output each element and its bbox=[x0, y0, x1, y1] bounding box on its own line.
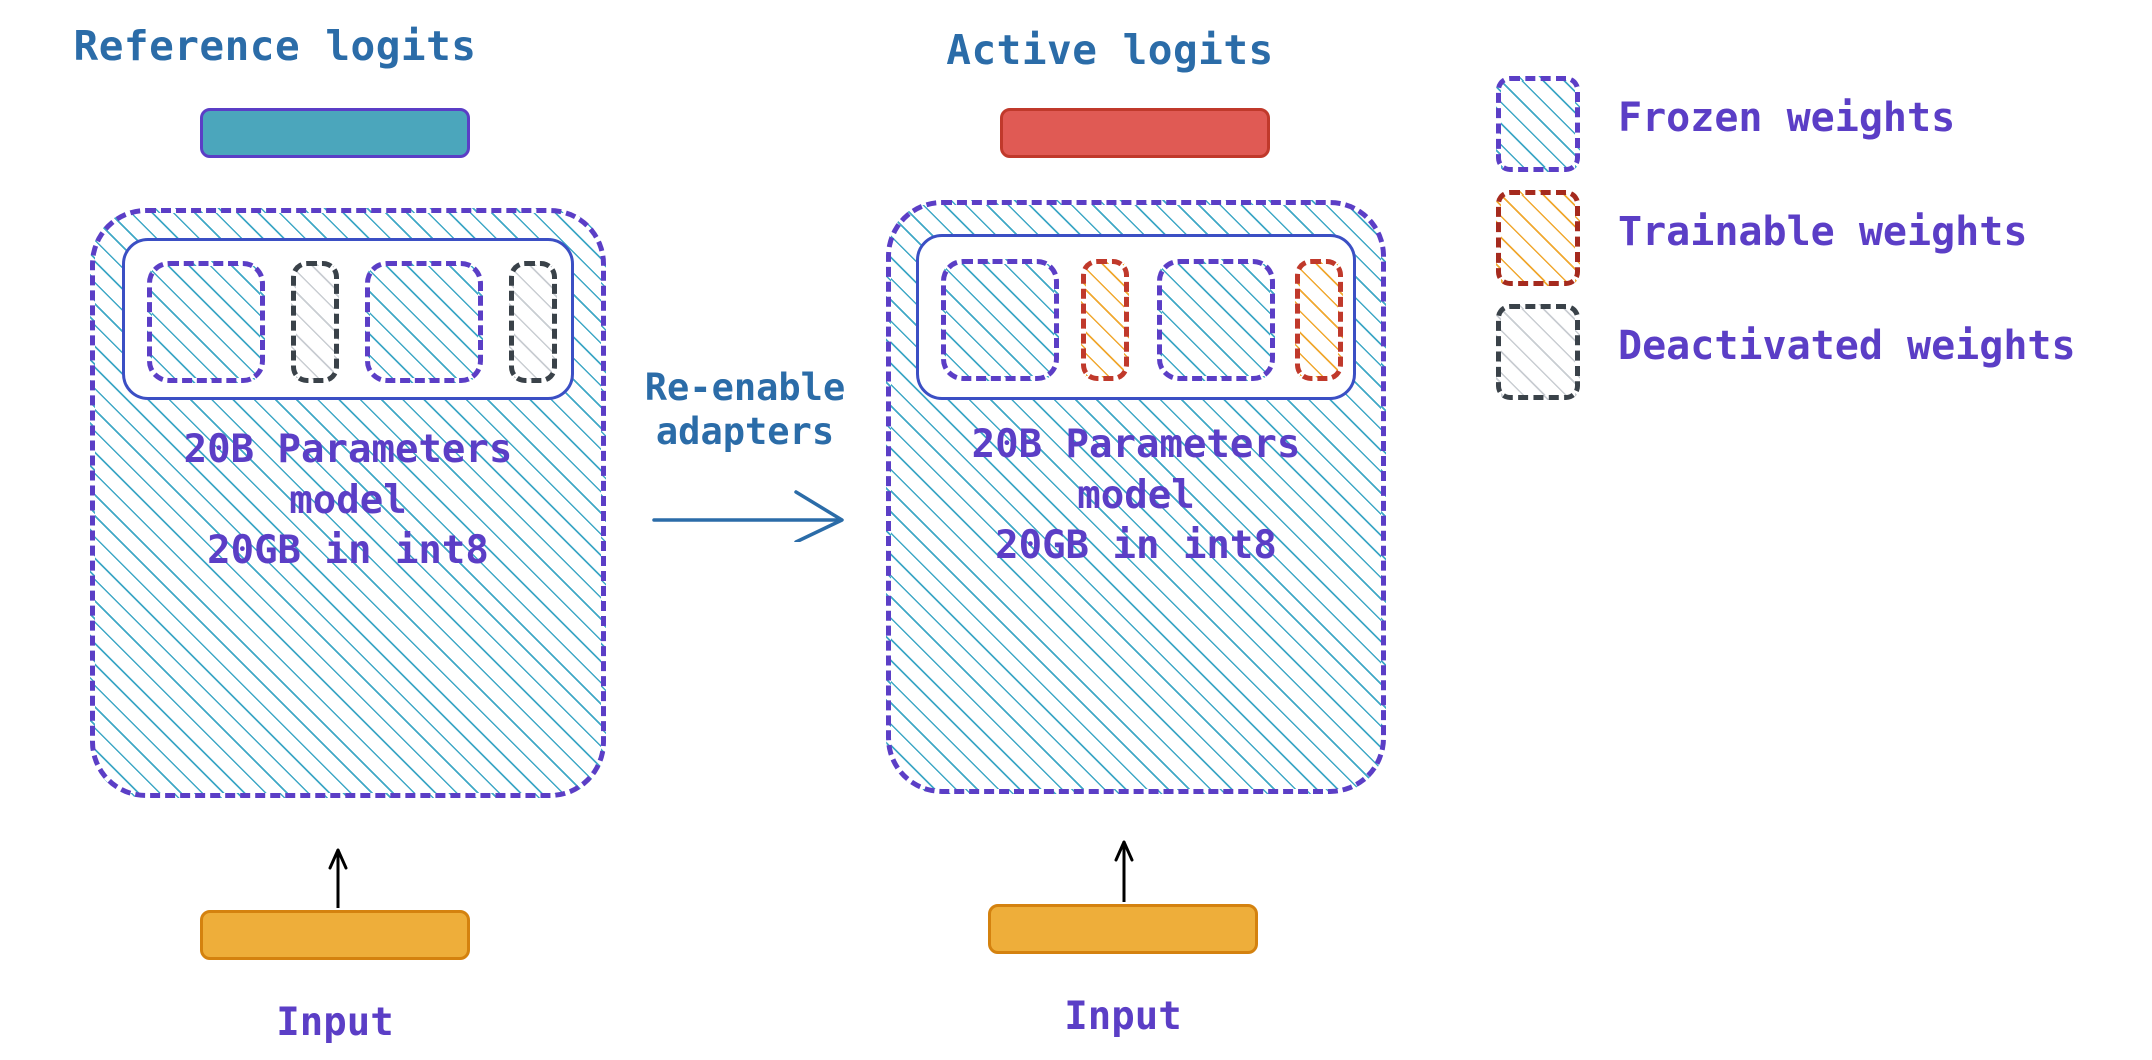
right-adapter-container bbox=[916, 234, 1356, 400]
left-input-label: Input bbox=[200, 1000, 470, 1045]
right-adapter-trainable-1 bbox=[1081, 259, 1129, 381]
right-adapter-frozen-2 bbox=[1157, 259, 1275, 381]
active-logits-bar bbox=[1000, 108, 1270, 158]
left-adapter-frozen-2 bbox=[365, 261, 483, 383]
transition-label: Re-enable adapters bbox=[620, 366, 870, 453]
right-arrow-icon bbox=[650, 482, 850, 542]
left-adapter-frozen-1 bbox=[147, 261, 265, 383]
left-input-bar bbox=[200, 910, 470, 960]
left-adapter-container bbox=[122, 238, 574, 400]
left-model-description: 20B Parameters model 20GB in int8 bbox=[96, 425, 600, 577]
frozen-weights-swatch bbox=[1496, 76, 1580, 172]
reference-logits-title: Reference logits bbox=[60, 24, 490, 69]
right-input-label: Input bbox=[988, 994, 1258, 1039]
right-input-bar bbox=[988, 904, 1258, 954]
right-adapter-frozen-1 bbox=[941, 259, 1059, 381]
left-input-arrow-icon bbox=[322, 848, 354, 908]
right-model-description: 20B Parameters model 20GB in int8 bbox=[886, 420, 1386, 572]
right-adapter-trainable-2 bbox=[1295, 259, 1343, 381]
legend-label-deactivated: Deactivated weights bbox=[1618, 326, 2076, 366]
deactivated-weights-swatch bbox=[1496, 304, 1580, 400]
legend-label-frozen: Frozen weights bbox=[1618, 98, 1955, 138]
legend-label-trainable: Trainable weights bbox=[1618, 212, 2027, 252]
active-logits-title: Active logits bbox=[900, 28, 1320, 73]
reference-logits-bar bbox=[200, 108, 470, 158]
left-adapter-deactivated-2 bbox=[509, 261, 557, 383]
right-input-arrow-icon bbox=[1108, 840, 1140, 902]
diagram-canvas: Reference logits 20B Parameters model 20… bbox=[0, 0, 2152, 1060]
left-adapter-deactivated-1 bbox=[291, 261, 339, 383]
trainable-weights-swatch bbox=[1496, 190, 1580, 286]
